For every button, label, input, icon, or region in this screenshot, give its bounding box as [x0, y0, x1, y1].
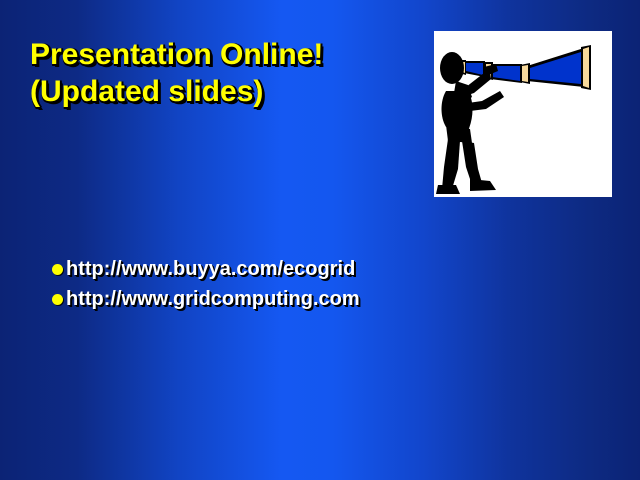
clipart-panel: [434, 31, 612, 197]
person-with-telescope-icon: [434, 31, 612, 197]
slide-canvas: Presentation Online! (Updated slides) ht…: [0, 0, 640, 480]
title-line-2: (Updated slides): [30, 73, 420, 110]
bullet-list: http://www.buyya.com/ecogrid http://www.…: [52, 254, 432, 314]
page-title: Presentation Online! (Updated slides): [30, 36, 420, 110]
list-item: http://www.gridcomputing.com: [52, 284, 432, 314]
bullet-link-text[interactable]: http://www.buyya.com/ecogrid: [66, 258, 355, 280]
bullet-link-text[interactable]: http://www.gridcomputing.com: [66, 288, 360, 310]
title-line-1: Presentation Online!: [30, 36, 420, 73]
disc-bullet-icon: [52, 294, 63, 305]
disc-bullet-icon: [52, 264, 63, 275]
list-item: http://www.buyya.com/ecogrid: [52, 254, 432, 284]
